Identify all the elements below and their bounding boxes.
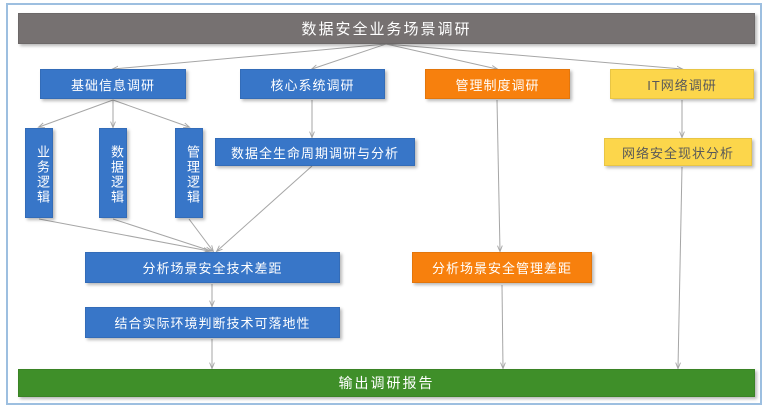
node-basic-info-survey[interactable]: 基础信息调研	[40, 69, 186, 99]
node-management-logic[interactable]: 管理逻辑	[175, 128, 203, 218]
node-it-network-survey[interactable]: IT网络调研	[610, 69, 754, 99]
node-network-security-status-analysis[interactable]: 网络安全现状分析	[604, 138, 752, 166]
slide-frame-right-gutter	[762, 0, 774, 411]
node-core-system-survey[interactable]: 核心系统调研	[240, 69, 385, 99]
node-management-policy-survey[interactable]: 管理制度调研	[425, 69, 570, 99]
node-output-survey-report: 输出调研报告	[18, 369, 755, 397]
root-title-bar: 数据安全业务场景调研	[18, 13, 755, 44]
node-business-logic[interactable]: 业务逻辑	[25, 128, 53, 218]
node-technical-feasibility[interactable]: 结合实际环境判断技术可落地性	[85, 307, 340, 338]
node-data-lifecycle-survey-analysis[interactable]: 数据全生命周期调研与分析	[215, 138, 415, 166]
node-data-logic[interactable]: 数据逻辑	[99, 128, 127, 218]
node-analyze-technical-gap[interactable]: 分析场景安全技术差距	[85, 252, 340, 283]
node-analyze-management-gap[interactable]: 分析场景安全管理差距	[412, 252, 592, 283]
flowchart-canvas: 数据安全业务场景调研 基础信息调研 核心系统调研 管理制度调研 IT网络调研 业…	[0, 0, 774, 411]
